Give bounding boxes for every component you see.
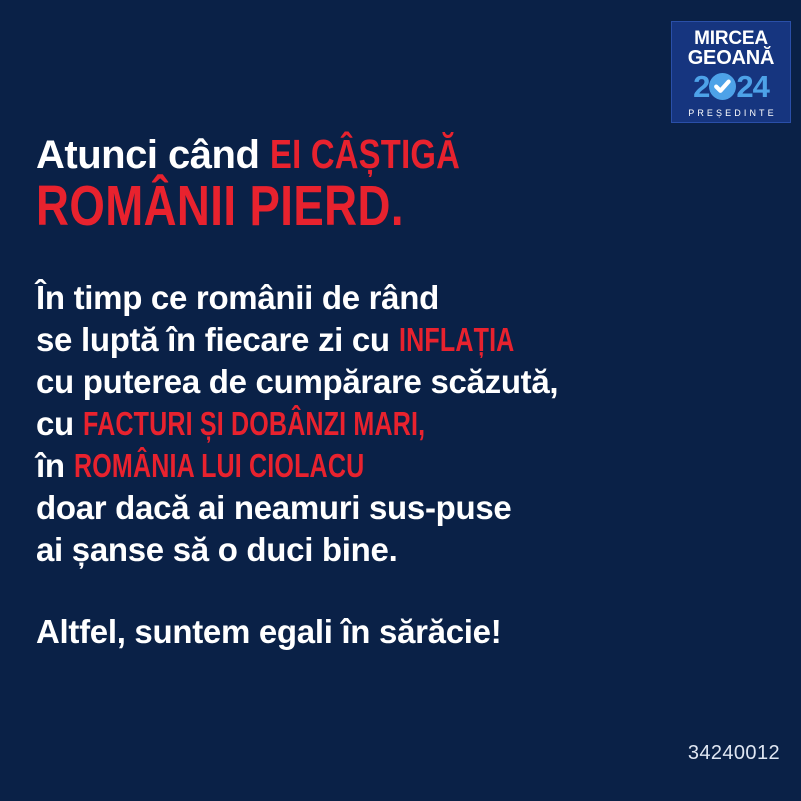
checkmark-icon bbox=[709, 73, 736, 100]
logo-name-first: MIRCEA bbox=[694, 28, 768, 49]
logo-year-suffix: 24 bbox=[736, 71, 768, 102]
body-line-text: se luptă în fiecare zi cu bbox=[36, 321, 399, 358]
logo-candidate-name: MIRCEA GEOANĂ bbox=[688, 29, 775, 69]
body-line: În timp ce românii de rând bbox=[36, 277, 756, 319]
body-line-spacer bbox=[36, 571, 756, 611]
headline-line-1-emphasis: EI CÂȘTIGĂ bbox=[270, 131, 460, 177]
campaign-logo: MIRCEA GEOANĂ 2 24 PREȘEDINTE bbox=[671, 21, 791, 123]
body-line: se luptă în fiecare zi cu INFLAȚIA bbox=[36, 319, 756, 361]
body-line: cu puterea de cumpărare scăzută, bbox=[36, 361, 756, 403]
reference-number: 34240012 bbox=[688, 742, 780, 765]
body-line-text: ai șanse să o duci bine. bbox=[36, 531, 397, 568]
body-line: ai șanse să o duci bine. bbox=[36, 529, 756, 571]
body-line-emphasis: FACTURI ȘI DOBÂNZI MARI, bbox=[83, 403, 425, 445]
body-line: cu FACTURI ȘI DOBÂNZI MARI, bbox=[36, 403, 756, 445]
headline: Atunci când EI CÂȘTIGĂ ROMÂNII PIERD. bbox=[36, 131, 736, 236]
body-line-emphasis: INFLAȚIA bbox=[399, 319, 514, 361]
logo-role-label: PREȘEDINTE bbox=[685, 108, 777, 118]
closing-line: Altfel, suntem egali în sărăcie! bbox=[36, 611, 756, 653]
body-line-text: cu bbox=[36, 405, 83, 442]
body-line-text: În timp ce românii de rând bbox=[36, 279, 439, 316]
body-line: doar dacă ai neamuri sus-puse bbox=[36, 487, 756, 529]
body-line-text: în bbox=[36, 447, 74, 484]
body-line-text: doar dacă ai neamuri sus-puse bbox=[36, 489, 511, 526]
body-line-text: cu puterea de cumpărare scăzută, bbox=[36, 363, 558, 400]
logo-name-last: GEOANĂ bbox=[688, 48, 775, 69]
logo-year-prefix: 2 bbox=[693, 71, 709, 102]
body-line-emphasis: ROMÂNIA LUI CIOLACU bbox=[74, 445, 364, 487]
logo-year: 2 24 bbox=[693, 71, 769, 101]
body-copy: În timp ce românii de rând se luptă în f… bbox=[36, 277, 756, 653]
campaign-poster: MIRCEA GEOANĂ 2 24 PREȘEDINTE Atunci cân… bbox=[0, 0, 801, 801]
body-line: în ROMÂNIA LUI CIOLACU bbox=[36, 445, 756, 487]
headline-line-1: Atunci când EI CÂȘTIGĂ bbox=[36, 131, 736, 178]
headline-line-2: ROMÂNII PIERD. bbox=[36, 176, 404, 236]
headline-line-1-white: Atunci când bbox=[36, 133, 270, 177]
